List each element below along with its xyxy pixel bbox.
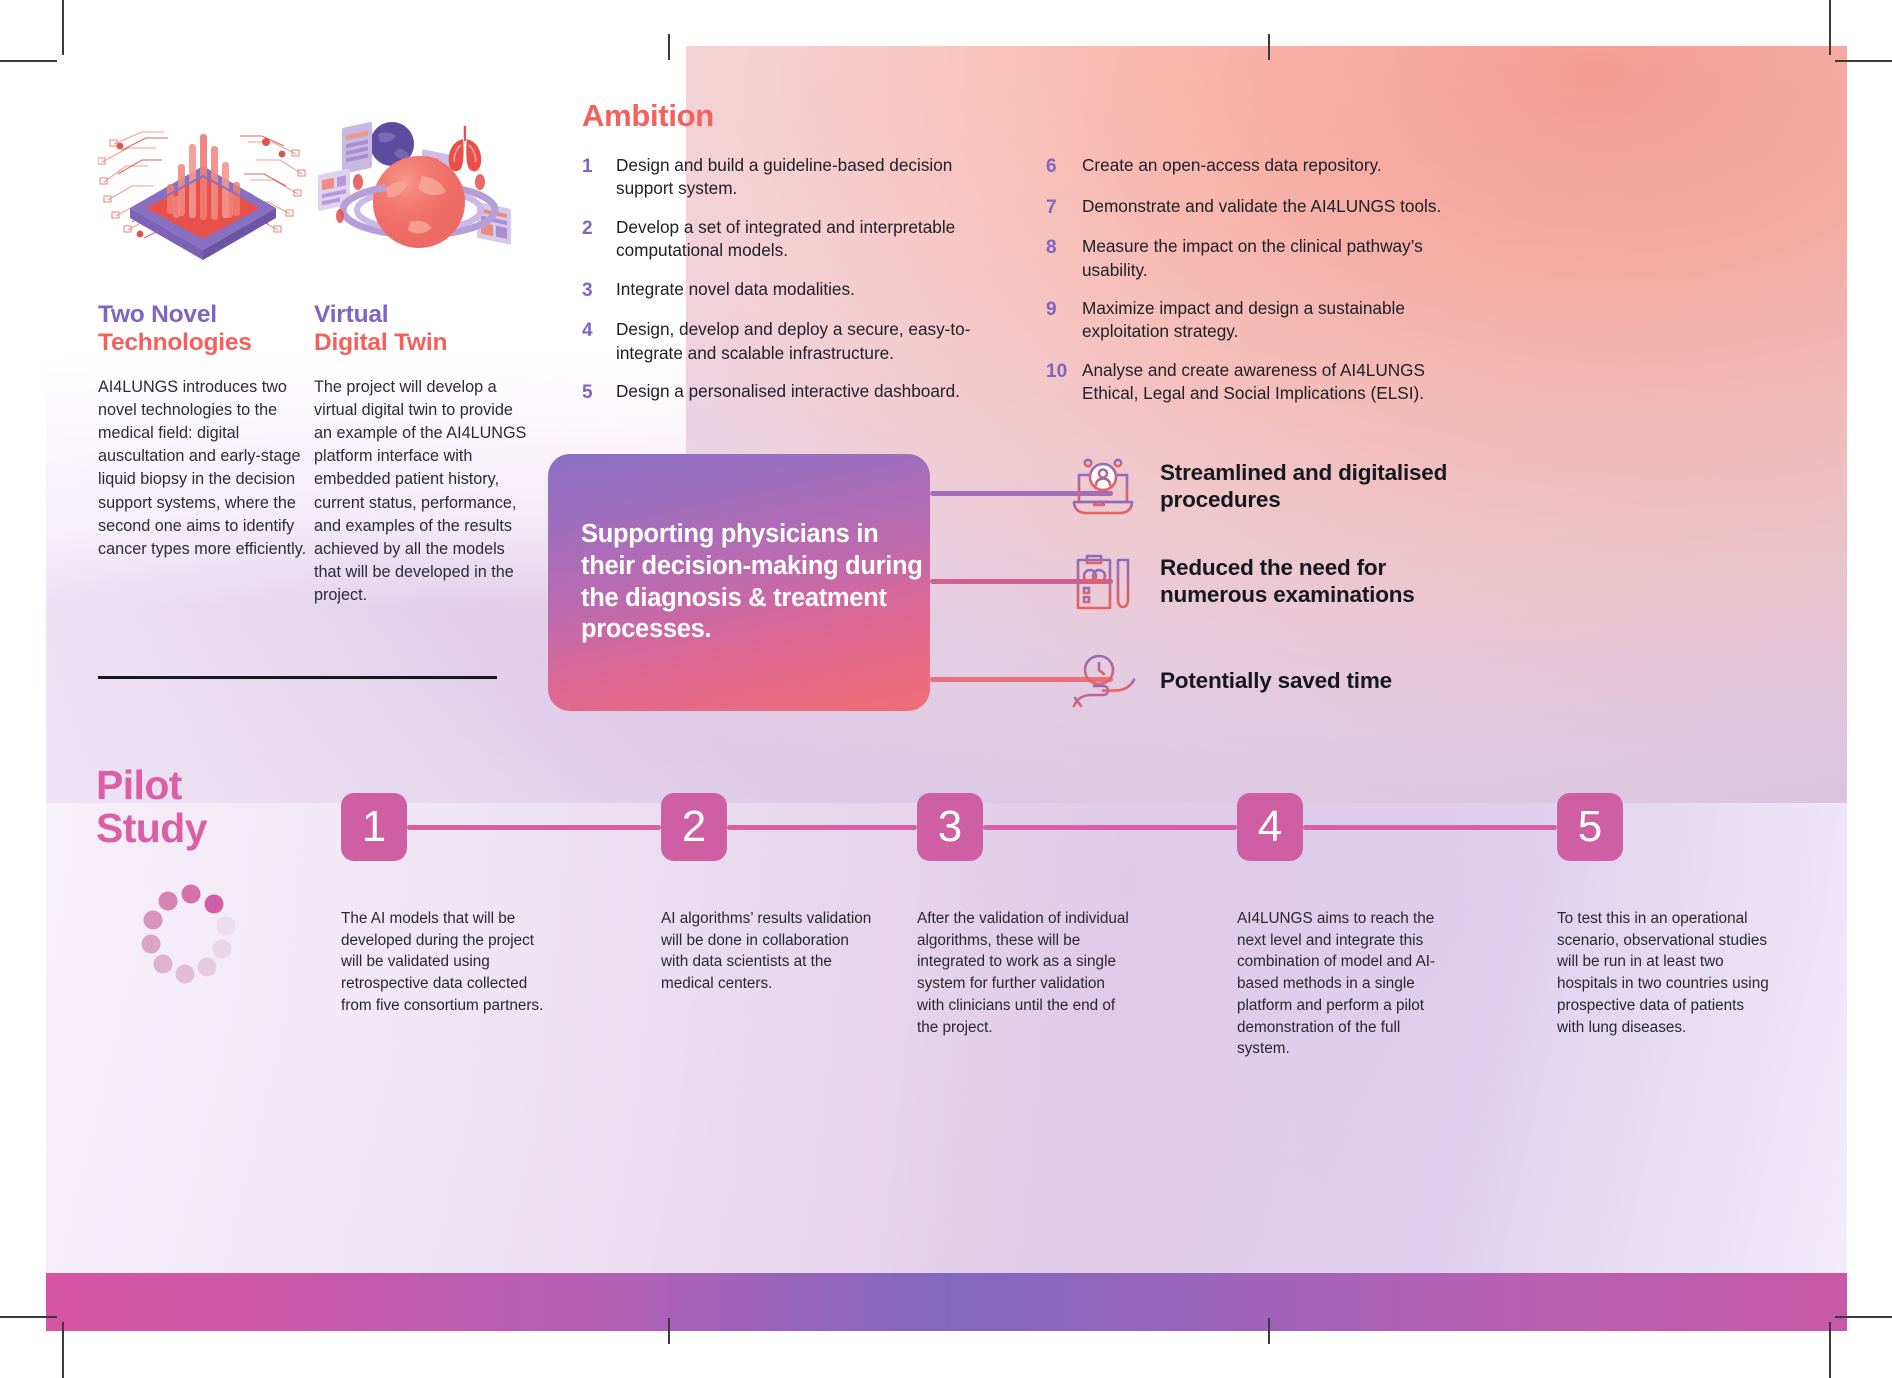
ambition-item-text: Analyse and create awareness of AI4LUNGS… xyxy=(1082,359,1466,406)
ambition-item-text: Measure the impact on the clinical pathw… xyxy=(1082,235,1466,282)
column-title-line1: Two Novel xyxy=(98,301,313,329)
ambition-item: 2 Develop a set of integrated and interp… xyxy=(582,216,1002,263)
ambition-item-text: Design and build a guideline-based decis… xyxy=(616,154,1002,201)
timeline-badge-4[interactable]: 4 xyxy=(1237,793,1303,861)
ambition-list-right: 6 Create an open-access data repository.… xyxy=(1046,154,1466,421)
timeline-segment-1 xyxy=(407,825,661,830)
crop-mark-top-center-right xyxy=(1268,34,1270,60)
ambition-heading: Ambition xyxy=(582,98,714,134)
pilot-step-text: AI algorithms’ results validation will b… xyxy=(661,908,876,995)
ambition-item-number: 8 xyxy=(1046,235,1082,261)
benefit-item: Reduced the need for numerous examinatio… xyxy=(1068,546,1490,616)
crop-mark-top-left-vertical xyxy=(62,0,64,55)
ambition-item-text: Design, develop and deploy a secure, eas… xyxy=(616,318,1002,365)
laptop-patient-icon xyxy=(1068,451,1138,521)
ambition-list-left: 1 Design and build a guideline-based dec… xyxy=(582,154,1002,421)
crop-mark-top-right-vertical xyxy=(1829,0,1831,55)
section-divider xyxy=(98,676,497,679)
timeline-badge-1[interactable]: 1 xyxy=(341,793,407,861)
timeline-badge-3[interactable]: 3 xyxy=(917,793,983,861)
column-virtual-digital-twin: Virtual Digital Twin The project will de… xyxy=(314,301,529,607)
crop-mark-bottom-right-vertical xyxy=(1829,1322,1831,1378)
pilot-step-text: AI4LUNGS aims to reach the next level an… xyxy=(1237,908,1452,1060)
hero-statement-card: Supporting physicians in their decision-… xyxy=(548,454,930,711)
ambition-item-number: 10 xyxy=(1046,359,1082,385)
ambition-item: 3 Integrate novel data modalities. xyxy=(582,278,1002,304)
ambition-item-text: Maximize impact and design a sustainable… xyxy=(1082,297,1466,344)
crop-mark-bottom-center-right xyxy=(1268,1318,1270,1344)
ambition-item: 4 Design, develop and deploy a secure, e… xyxy=(582,318,1002,365)
crop-mark-top-right-horizontal xyxy=(1835,60,1892,62)
column-title: Two Novel Technologies xyxy=(98,301,313,358)
crop-mark-bottom-left-vertical xyxy=(62,1322,64,1378)
ambition-item-text: Demonstrate and validate the AI4LUNGS to… xyxy=(1082,195,1441,218)
hand-clock-icon xyxy=(1068,646,1138,716)
ambition-item: 5 Design a personalised interactive dash… xyxy=(582,380,1002,406)
hero-statement-text: Supporting physicians in their decision-… xyxy=(548,519,930,647)
benefit-label: Reduced the need for numerous examinatio… xyxy=(1160,554,1490,609)
pilot-study-heading: Pilot Study xyxy=(96,764,316,850)
ambition-item: 8 Measure the impact on the clinical pat… xyxy=(1046,235,1466,282)
bottom-gradient-bar xyxy=(46,1273,1847,1331)
ambition-item-number: 6 xyxy=(1046,154,1082,180)
ambition-item-number: 5 xyxy=(582,380,616,406)
column-body-text: AI4LUNGS introduces two novel technologi… xyxy=(98,376,313,561)
pilot-step-text: After the validation of individual algor… xyxy=(917,908,1132,1038)
timeline-segment-4 xyxy=(1303,825,1557,830)
crop-mark-bottom-center-left xyxy=(668,1318,670,1344)
pilot-step-text: The AI models that will be developed dur… xyxy=(341,908,556,1017)
ambition-item-number: 3 xyxy=(582,278,616,304)
crop-mark-top-left-horizontal xyxy=(0,60,57,62)
ambition-item-number: 2 xyxy=(582,216,616,242)
column-body-text: The project will develop a virtual digit… xyxy=(314,376,529,608)
timeline-badge-2[interactable]: 2 xyxy=(661,793,727,861)
ambition-item-text: Design a personalised interactive dashbo… xyxy=(616,380,960,403)
ambition-item: 10 Analyse and create awareness of AI4LU… xyxy=(1046,359,1466,406)
timeline-segment-2 xyxy=(727,825,917,830)
column-two-novel-technologies: Two Novel Technologies AI4LUNGS introduc… xyxy=(98,301,313,561)
ambition-item-text: Integrate novel data modalities. xyxy=(616,278,855,301)
pilot-step-text: To test this in an operational scenario,… xyxy=(1557,908,1772,1038)
pilot-study-dot-ring xyxy=(126,876,246,996)
ambition-item: 1 Design and build a guideline-based dec… xyxy=(582,154,1002,201)
crop-mark-bottom-right-horizontal xyxy=(1835,1316,1892,1318)
column-title: Virtual Digital Twin xyxy=(314,301,529,358)
pilot-study-timeline: 1 2 3 4 5 xyxy=(341,793,1686,863)
benefit-label: Potentially saved time xyxy=(1160,667,1392,694)
crop-mark-top-center-left xyxy=(668,34,670,60)
clipboard-test-tube-icon xyxy=(1068,546,1138,616)
timeline-segment-3 xyxy=(983,825,1237,830)
ambition-item-number: 7 xyxy=(1046,195,1082,221)
benefit-item: Streamlined and digitalised procedures xyxy=(1068,451,1490,521)
poster-canvas: Two Novel Technologies AI4LUNGS introduc… xyxy=(46,46,1847,1331)
column-title-line2: Technologies xyxy=(98,329,313,357)
crop-mark-bottom-left-horizontal xyxy=(0,1316,57,1318)
ambition-item-number: 1 xyxy=(582,154,616,180)
benefit-label: Streamlined and digitalised procedures xyxy=(1160,459,1490,514)
benefit-item: Potentially saved time xyxy=(1068,646,1392,716)
digital-twin-illustration xyxy=(314,104,524,264)
ambition-item: 7 Demonstrate and validate the AI4LUNGS … xyxy=(1046,195,1466,221)
ambition-item-text: Develop a set of integrated and interpre… xyxy=(616,216,1002,263)
ambition-item: 9 Maximize impact and design a sustainab… xyxy=(1046,297,1466,344)
pilot-study-heading-line1: Pilot xyxy=(96,762,182,808)
ambition-item-text: Create an open-access data repository. xyxy=(1082,154,1382,177)
timeline-badge-5[interactable]: 5 xyxy=(1557,793,1623,861)
column-title-line1: Virtual xyxy=(314,301,529,329)
pilot-study-heading-line2: Study xyxy=(96,805,207,851)
ambition-item: 6 Create an open-access data repository. xyxy=(1046,154,1466,180)
ambition-item-number: 9 xyxy=(1046,297,1082,323)
ai-chip-illustration xyxy=(98,104,308,264)
column-title-line2: Digital Twin xyxy=(314,329,529,357)
ambition-item-number: 4 xyxy=(582,318,616,344)
